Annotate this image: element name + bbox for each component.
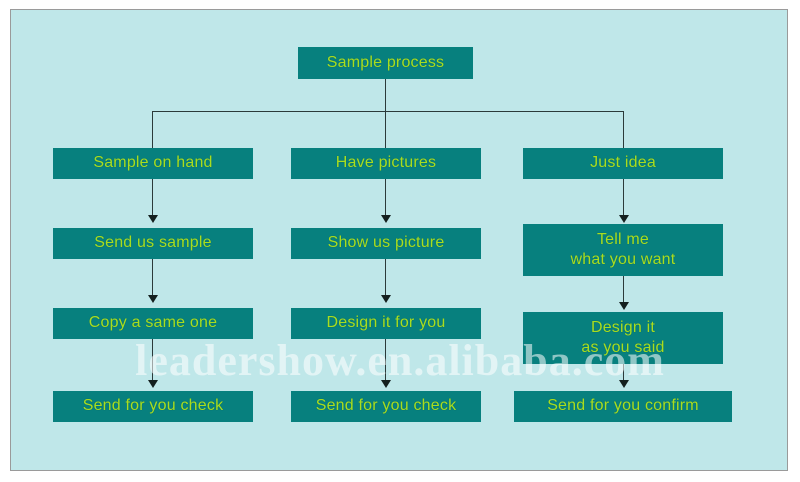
connector-bus-drop-3 (623, 111, 624, 148)
node-label: Design it for you (320, 314, 451, 333)
node-design-it-for-you[interactable]: Design it for you (291, 308, 481, 339)
node-label: Sample process (321, 54, 451, 73)
node-tell-me-what-you-want[interactable]: Tell me what you want (523, 224, 723, 276)
connector-bus-drop-2 (385, 111, 386, 148)
node-label: Tell me what you want (565, 230, 682, 270)
connector-root-stem (385, 79, 386, 111)
node-label: Copy a same one (83, 314, 223, 333)
node-send-for-you-check-1[interactable]: Send for you check (53, 391, 253, 422)
node-label: Send for you confirm (541, 397, 705, 416)
node-label: Sample on hand (87, 154, 218, 173)
arrowhead-col2-3-4 (381, 380, 391, 388)
arrowhead-col3-3-4 (619, 380, 629, 388)
node-copy-a-same-one[interactable]: Copy a same one (53, 308, 253, 339)
connector-col3-1-2 (623, 179, 624, 217)
node-label: Send for you check (77, 397, 230, 416)
node-sample-process[interactable]: Sample process (298, 47, 473, 79)
connector-col2-1-2 (385, 179, 386, 217)
node-show-us-picture[interactable]: Show us picture (291, 228, 481, 259)
node-just-idea[interactable]: Just idea (523, 148, 723, 179)
connector-col2-3-4 (385, 339, 386, 382)
node-have-pictures[interactable]: Have pictures (291, 148, 481, 179)
node-design-it-as-you-said[interactable]: Design it as you said (523, 312, 723, 364)
connector-col3-2-3 (623, 276, 624, 304)
node-label: Design it as you said (575, 318, 670, 358)
arrowhead-col2-2-3 (381, 295, 391, 303)
node-label: Send for you check (310, 397, 463, 416)
connector-bus (152, 111, 623, 112)
node-send-for-you-check-2[interactable]: Send for you check (291, 391, 481, 422)
arrowhead-col1-1-2 (148, 215, 158, 223)
node-label: Just idea (584, 154, 662, 173)
node-send-for-you-confirm[interactable]: Send for you confirm (514, 391, 732, 422)
connector-col1-1-2 (152, 179, 153, 217)
connector-col2-2-3 (385, 259, 386, 297)
node-send-us-sample[interactable]: Send us sample (53, 228, 253, 259)
arrowhead-col1-2-3 (148, 295, 158, 303)
node-label: Send us sample (88, 234, 218, 253)
arrowhead-col3-1-2 (619, 215, 629, 223)
node-label: Have pictures (330, 154, 442, 173)
node-sample-on-hand[interactable]: Sample on hand (53, 148, 253, 179)
connector-col1-3-4 (152, 339, 153, 382)
arrowhead-col1-3-4 (148, 380, 158, 388)
flowchart-frame: Sample process Sample on hand Send us sa… (10, 9, 788, 471)
node-label: Show us picture (322, 234, 451, 253)
connector-bus-drop-1 (152, 111, 153, 148)
connector-col1-2-3 (152, 259, 153, 297)
arrowhead-col3-2-3 (619, 302, 629, 310)
arrowhead-col2-1-2 (381, 215, 391, 223)
screenshot-canvas: Sample process Sample on hand Send us sa… (0, 0, 800, 482)
